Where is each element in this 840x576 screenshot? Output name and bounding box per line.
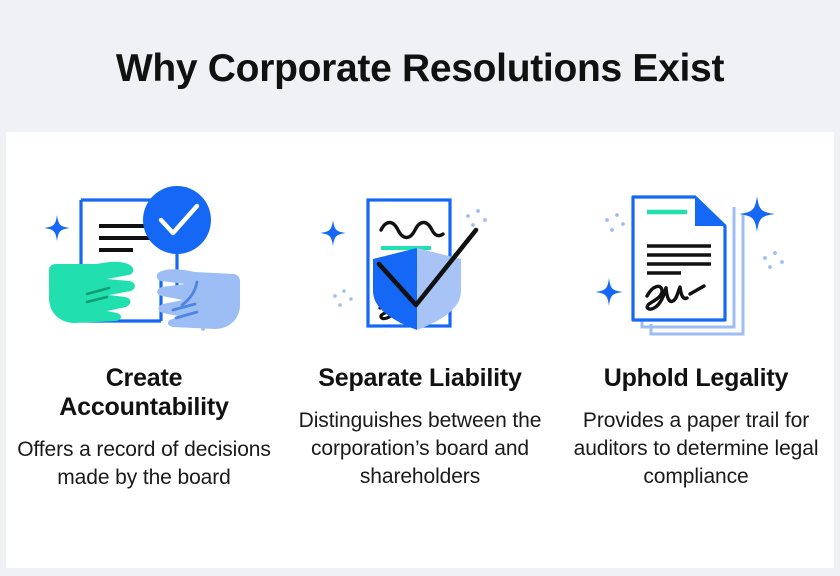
content-card: Create Accountability Offers a record of… [6,132,834,568]
column-body: Provides a paper trail for auditors to d… [566,407,826,491]
handshake-document-check-icon [29,170,259,350]
sparkle-star [44,215,70,241]
column-body: Offers a record of decisions made by the… [14,436,274,492]
title-bar: Why Corporate Resolutions Exist [0,0,840,132]
column-body: Distinguishes between the corporation’s … [290,407,550,491]
sparkle-star [320,220,346,246]
stacked-documents-signature-icon [581,170,811,350]
wavy-line [381,222,443,237]
column-heading: Create Accountability [19,364,269,422]
page-title: Why Corporate Resolutions Exist [116,42,724,91]
infographic-poster: Why Corporate Resolutions Exist [0,0,840,576]
check-circle [143,186,211,254]
sparkle-star [595,278,623,306]
column-uphold-legality: Uphold Legality Provides a paper trail f… [558,132,834,491]
text-lines [99,226,152,250]
column-create-accountability: Create Accountability Offers a record of… [6,132,282,492]
teal-hand [49,261,135,322]
document-shield-check-icon [305,170,535,350]
column-heading: Uphold Legality [604,364,789,393]
column-heading: Separate Liability [318,364,521,393]
column-separate-liability: Separate Liability Distinguishes between… [282,132,558,491]
